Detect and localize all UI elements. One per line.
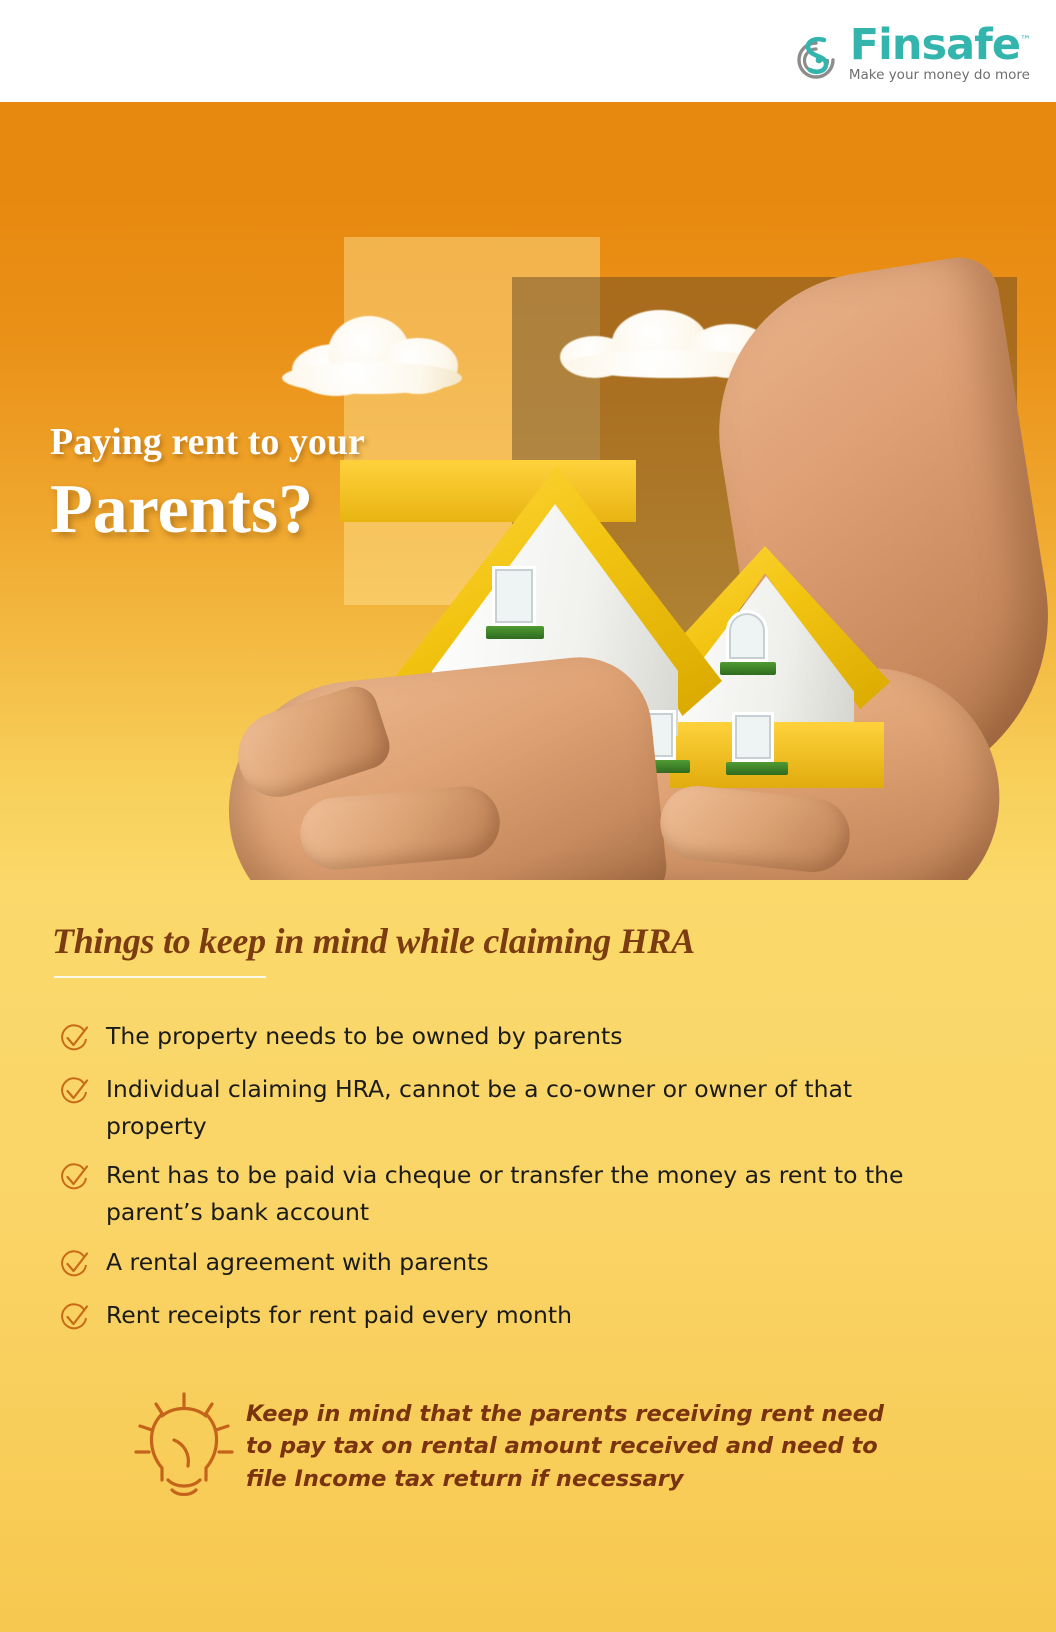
list-item-label: Rent receipts for rent paid every month [106,1297,572,1334]
logo-trademark: ™ [1020,34,1030,47]
base-secondary [670,722,884,788]
flowerbox-d [726,762,788,775]
finsafe-logo[interactable]: Finsafe™ Make your money do more [789,24,1030,83]
window-secondary-attic [726,610,768,662]
check-circle-icon [60,1018,106,1059]
header-bar: Finsafe™ Make your money do more [0,0,1056,102]
hero-title: Paying rent to your Parents? [50,422,365,550]
flowerbox-secondary-attic [720,662,776,675]
list-item: Rent has to be paid via cheque or transf… [60,1157,960,1231]
check-circle-icon [60,1297,106,1338]
lightbulb-icon [128,1380,246,1509]
finsafe-spiral-s-icon [789,29,843,83]
list-item-label: Rent has to be paid via cheque or transf… [106,1157,926,1231]
tip-text: Keep in mind that the parents receiving … [246,1380,886,1495]
list-item: Individual claiming HRA, cannot be a co-… [60,1071,960,1145]
infographic-page: Finsafe™ Make your money do more [0,0,1056,1632]
check-circle-icon [60,1244,106,1285]
list-item: The property needs to be owned by parent… [60,1018,960,1059]
tip-callout: Keep in mind that the parents receiving … [128,1380,886,1509]
logo-brand-name: Finsafe [850,20,1020,70]
hero-title-line1: Paying rent to your [50,422,365,464]
window-attic [492,566,536,626]
section-heading: Things to keep in mind while claiming HR… [52,920,695,962]
list-item-label: Individual claiming HRA, cannot be a co-… [106,1071,926,1145]
hero-banner: Paying rent to your Parents? [0,102,1056,902]
logo-wordmark: Finsafe™ [850,24,1030,66]
check-circle-icon [60,1071,106,1112]
hero-title-line2: Parents? [50,470,365,551]
hra-checklist: The property needs to be owned by parent… [60,1018,960,1350]
list-item-label: A rental agreement with parents [106,1244,489,1281]
check-circle-icon [60,1157,106,1198]
list-item: A rental agreement with parents [60,1244,960,1285]
list-item-label: The property needs to be owned by parent… [106,1018,623,1055]
content-section: Things to keep in mind while claiming HR… [0,880,1056,1632]
window-secondary-lower [732,712,774,762]
list-item: Rent receipts for rent paid every month [60,1297,960,1338]
section-heading-underline [54,976,266,978]
flowerbox-attic [486,626,544,639]
